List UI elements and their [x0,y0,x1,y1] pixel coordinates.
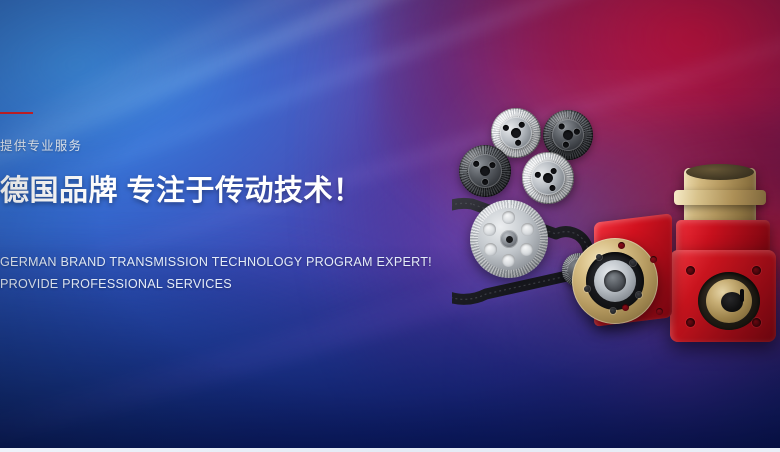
banner-subtitle-cn: 提供专业服务 [0,140,420,153]
promo-banner: 提供专业服务 德国品牌 专注于传动技术！ GERMAN BRAND TRANSM… [0,0,780,452]
banner-copy-block: 提供专业服务 德国品牌 专注于传动技术！ GERMAN BRAND TRANSM… [0,112,420,295]
red-accent-rule [0,112,33,114]
banner-subtitle-en-line1: GERMAN BRAND TRANSMISSION TECHNOLOGY PRO… [0,251,420,273]
banner-subtitle-en-line2: PROVIDE PROFESSIONAL SERVICES [0,273,420,295]
banner-headline-cn: 德国品牌 专注于传动技术！ [0,175,420,207]
banner-bottom-strip [0,448,780,452]
